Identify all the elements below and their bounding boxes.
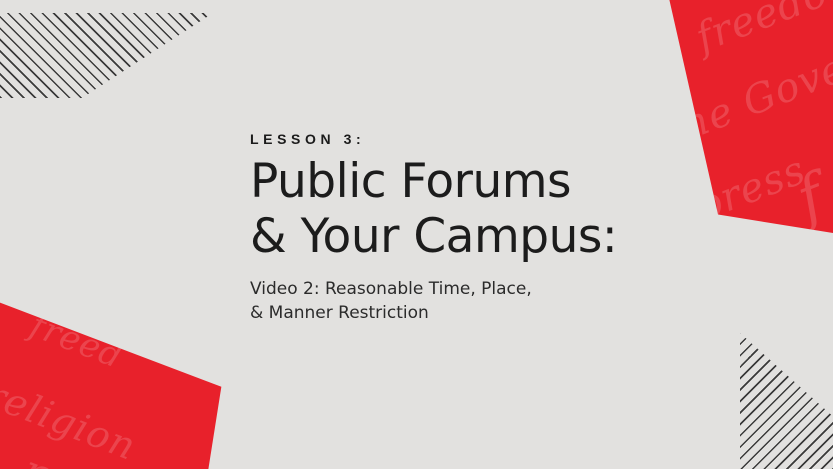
page-title-line-1: Public Forums xyxy=(250,155,670,210)
script-text: freed xyxy=(26,308,128,374)
diagonal-stripes-icon-bottom-right xyxy=(740,333,833,469)
script-text: reedom xyxy=(16,448,196,469)
lesson-label: LESSON 3: xyxy=(250,132,670,147)
page-subtitle: Video 2: Reasonable Time, Place, & Manne… xyxy=(250,278,670,325)
diagonal-stripes-icon-top-left xyxy=(0,13,213,98)
script-text: f xyxy=(789,166,832,230)
title-slide: freedom of the Govern of press f freed r… xyxy=(0,0,833,469)
script-text: the Govern xyxy=(661,31,833,153)
red-angled-panel-bottom-left: freed religion reedom l xyxy=(0,295,226,469)
script-text: religion xyxy=(0,374,141,466)
script-text: of press xyxy=(650,150,811,239)
page-subtitle-line-1: Video 2: Reasonable Time, Place, xyxy=(250,278,670,301)
script-text: l xyxy=(129,306,150,338)
page-title: Public Forums & Your Campus: xyxy=(250,155,670,264)
red-angled-panel-top-right: freedom of the Govern of press f xyxy=(650,0,833,239)
title-text-block: LESSON 3: Public Forums & Your Campus: V… xyxy=(250,132,670,325)
script-text: freedom of xyxy=(691,0,833,59)
page-title-line-2: & Your Campus: xyxy=(250,210,670,265)
page-subtitle-line-2: & Manner Restriction xyxy=(250,302,670,325)
